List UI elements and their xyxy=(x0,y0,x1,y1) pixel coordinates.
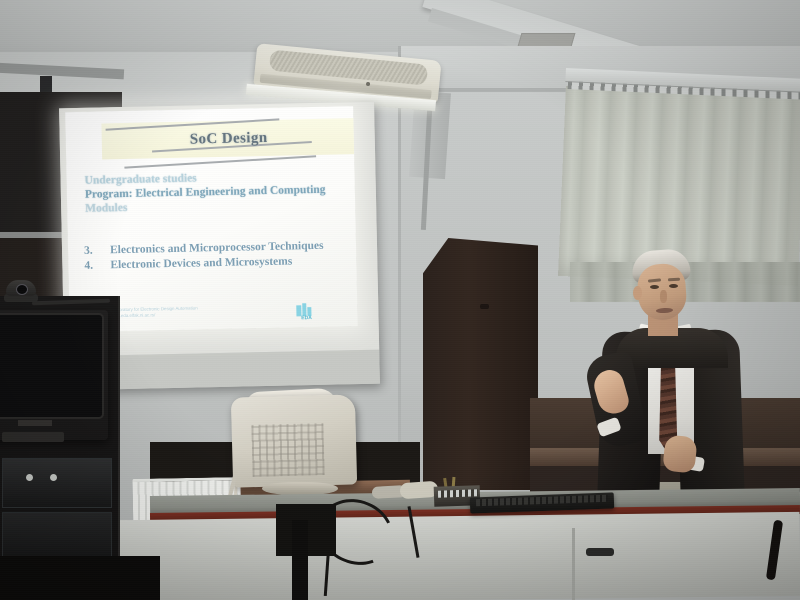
list-item-number: 3. xyxy=(84,243,110,259)
ear xyxy=(633,286,642,300)
slide-footer: SoC - Laboratory for Electronic Design A… xyxy=(99,304,289,320)
lectern xyxy=(423,238,538,490)
eda-logo-icon: EDA xyxy=(295,303,317,321)
av-cabinet-glass-door xyxy=(2,512,112,562)
wall-corner xyxy=(398,46,401,486)
slide-module-list: 3. Electronics and Microprocessor Techni… xyxy=(84,238,347,273)
eye-right xyxy=(669,284,678,288)
hand-right xyxy=(662,434,698,473)
floor-shadow xyxy=(0,556,160,600)
desk-front-panel xyxy=(120,512,800,600)
eye-left xyxy=(650,285,659,289)
desk-leg xyxy=(292,520,308,600)
slide-title: SoC Design xyxy=(190,130,268,149)
tv-control-panel xyxy=(2,432,64,442)
desk-device xyxy=(399,481,438,500)
webcam-lens xyxy=(16,284,28,295)
desk-cable-grommet xyxy=(586,548,614,556)
tv-brand-badge xyxy=(18,420,52,426)
av-cabinet-glass-door xyxy=(2,458,112,508)
crt-monitor-vents xyxy=(251,423,324,477)
cabinet-knob xyxy=(50,474,57,481)
list-item-label: Electronic Devices and Microsystems xyxy=(110,254,292,273)
desk-panel-seam xyxy=(572,528,575,600)
logo-text: EDA xyxy=(295,315,317,321)
list-item-number: 4. xyxy=(84,258,110,274)
tv-screen xyxy=(0,313,104,419)
slide-subtitle: Undergraduate studies Program: Electrica… xyxy=(84,169,335,216)
nose xyxy=(660,290,667,303)
presentation-room-photo: SoC Design Undergraduate studies Program… xyxy=(0,0,800,600)
cabinet-knob xyxy=(26,474,33,481)
lectern-handle xyxy=(480,304,489,309)
eyebrow-right xyxy=(668,278,680,282)
board-clip xyxy=(40,76,52,92)
